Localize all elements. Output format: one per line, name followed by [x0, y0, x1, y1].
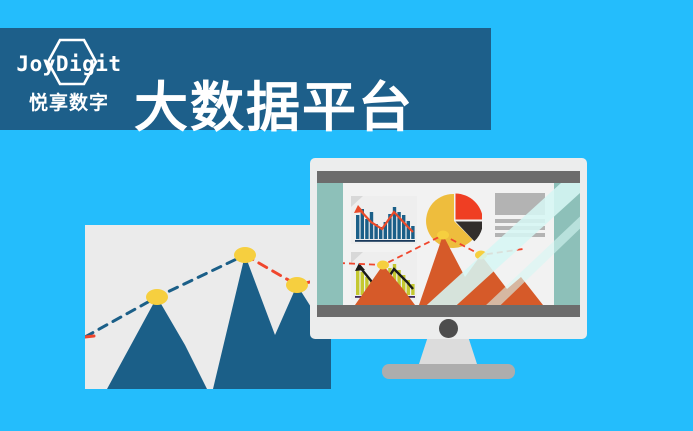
- data-point-marker: [437, 231, 449, 240]
- monitor-screen: [317, 183, 580, 305]
- monitor-stand-neck: [419, 339, 477, 364]
- text-block-main: [495, 193, 545, 215]
- mountain-area-chart: [85, 225, 331, 389]
- monitor-bottom-bar: [317, 305, 580, 317]
- orange-mountain-shape: [343, 235, 554, 305]
- screen-side-panel-left: [317, 183, 343, 305]
- header-band: JoyDigit 悦享数字 大数据平台: [0, 28, 491, 130]
- brand-logo: JoyDigit 悦享数字: [14, 36, 124, 122]
- data-point-marker: [377, 261, 389, 270]
- dashboard-area: [343, 183, 554, 305]
- left-chart-panel: [85, 225, 331, 389]
- trend-line-red-stub: [85, 336, 94, 337]
- desktop-monitor: [310, 158, 587, 339]
- data-point-marker: [234, 247, 256, 263]
- orange-trend-line: [343, 235, 523, 265]
- poster-canvas: JoyDigit 悦享数字 大数据平台: [0, 0, 693, 431]
- page-title: 大数据平台: [134, 78, 414, 138]
- data-point-marker: [475, 251, 487, 260]
- logo-subtext: 悦享数字: [14, 88, 124, 115]
- data-point-marker: [286, 277, 308, 293]
- area-chart-orange: [343, 219, 554, 305]
- screen-side-panel-right: [554, 183, 580, 305]
- monitor-power-indicator: [439, 319, 458, 338]
- logo-wordmark: JoyDigit: [14, 52, 124, 76]
- mountain-shape: [85, 255, 331, 389]
- data-point-marker: [146, 289, 168, 305]
- monitor-stand-base: [382, 364, 515, 379]
- monitor-top-bar: [317, 171, 580, 183]
